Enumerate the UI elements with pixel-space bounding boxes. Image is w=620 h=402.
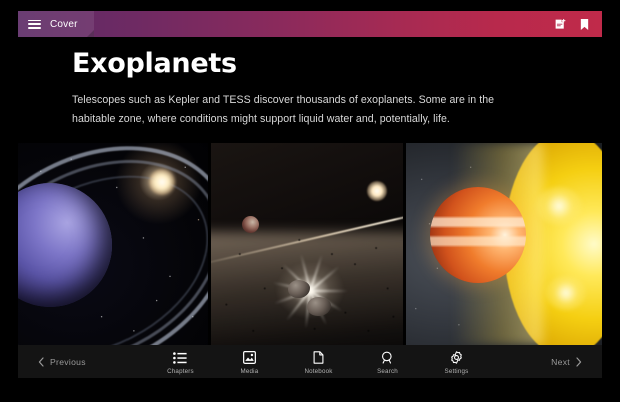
gear-icon	[450, 350, 463, 365]
tool-settings[interactable]: Settings	[435, 350, 477, 375]
gallery-image-ringed-blue-planet[interactable]	[18, 143, 208, 345]
chevron-left-icon	[38, 357, 44, 367]
previous-page-label: Previous	[50, 357, 86, 367]
tool-notebook-label: Notebook	[304, 368, 332, 375]
cover-tab[interactable]: Cover	[18, 11, 94, 37]
top-app-bar: Cover	[18, 11, 602, 37]
page-title: Exoplanets	[72, 50, 237, 77]
tool-media-label: Media	[241, 368, 259, 375]
tool-notebook[interactable]: Notebook	[297, 350, 339, 375]
ebook-reader-window: Cover	[0, 0, 620, 402]
bottom-toolbar: Previous Chapters	[18, 345, 602, 378]
hamburger-menu-icon[interactable]	[28, 20, 41, 29]
cover-tab-label: Cover	[50, 19, 78, 30]
dust-motes-layer	[211, 143, 403, 345]
next-page-label: Next	[551, 357, 570, 367]
tool-buttons: Chapters Media	[92, 348, 545, 375]
tool-search-label: Search	[377, 368, 398, 375]
page-body-text: Telescopes such as Kepler and TESS disco…	[72, 91, 514, 129]
document-icon	[313, 350, 324, 365]
gallery-image-hot-jupiter-star[interactable]	[406, 143, 602, 345]
image-gallery	[18, 143, 602, 345]
gallery-image-debris-disk-collision[interactable]	[211, 143, 403, 345]
tool-chapters-label: Chapters	[167, 368, 194, 375]
bookmark-icon[interactable]	[579, 18, 590, 31]
next-page-button[interactable]: Next	[545, 357, 588, 367]
tool-chapters[interactable]: Chapters	[159, 350, 201, 375]
tool-media[interactable]: Media	[228, 350, 270, 375]
list-icon	[173, 350, 187, 365]
image-icon	[243, 350, 256, 365]
tool-search[interactable]: Search	[366, 350, 408, 375]
previous-page-button[interactable]: Previous	[32, 357, 92, 367]
chevron-right-icon	[576, 357, 582, 367]
header-actions	[554, 18, 602, 31]
hot-jupiter-body	[430, 187, 526, 283]
tool-settings-label: Settings	[445, 368, 469, 375]
add-note-icon[interactable]	[554, 18, 567, 31]
search-icon	[381, 350, 393, 365]
